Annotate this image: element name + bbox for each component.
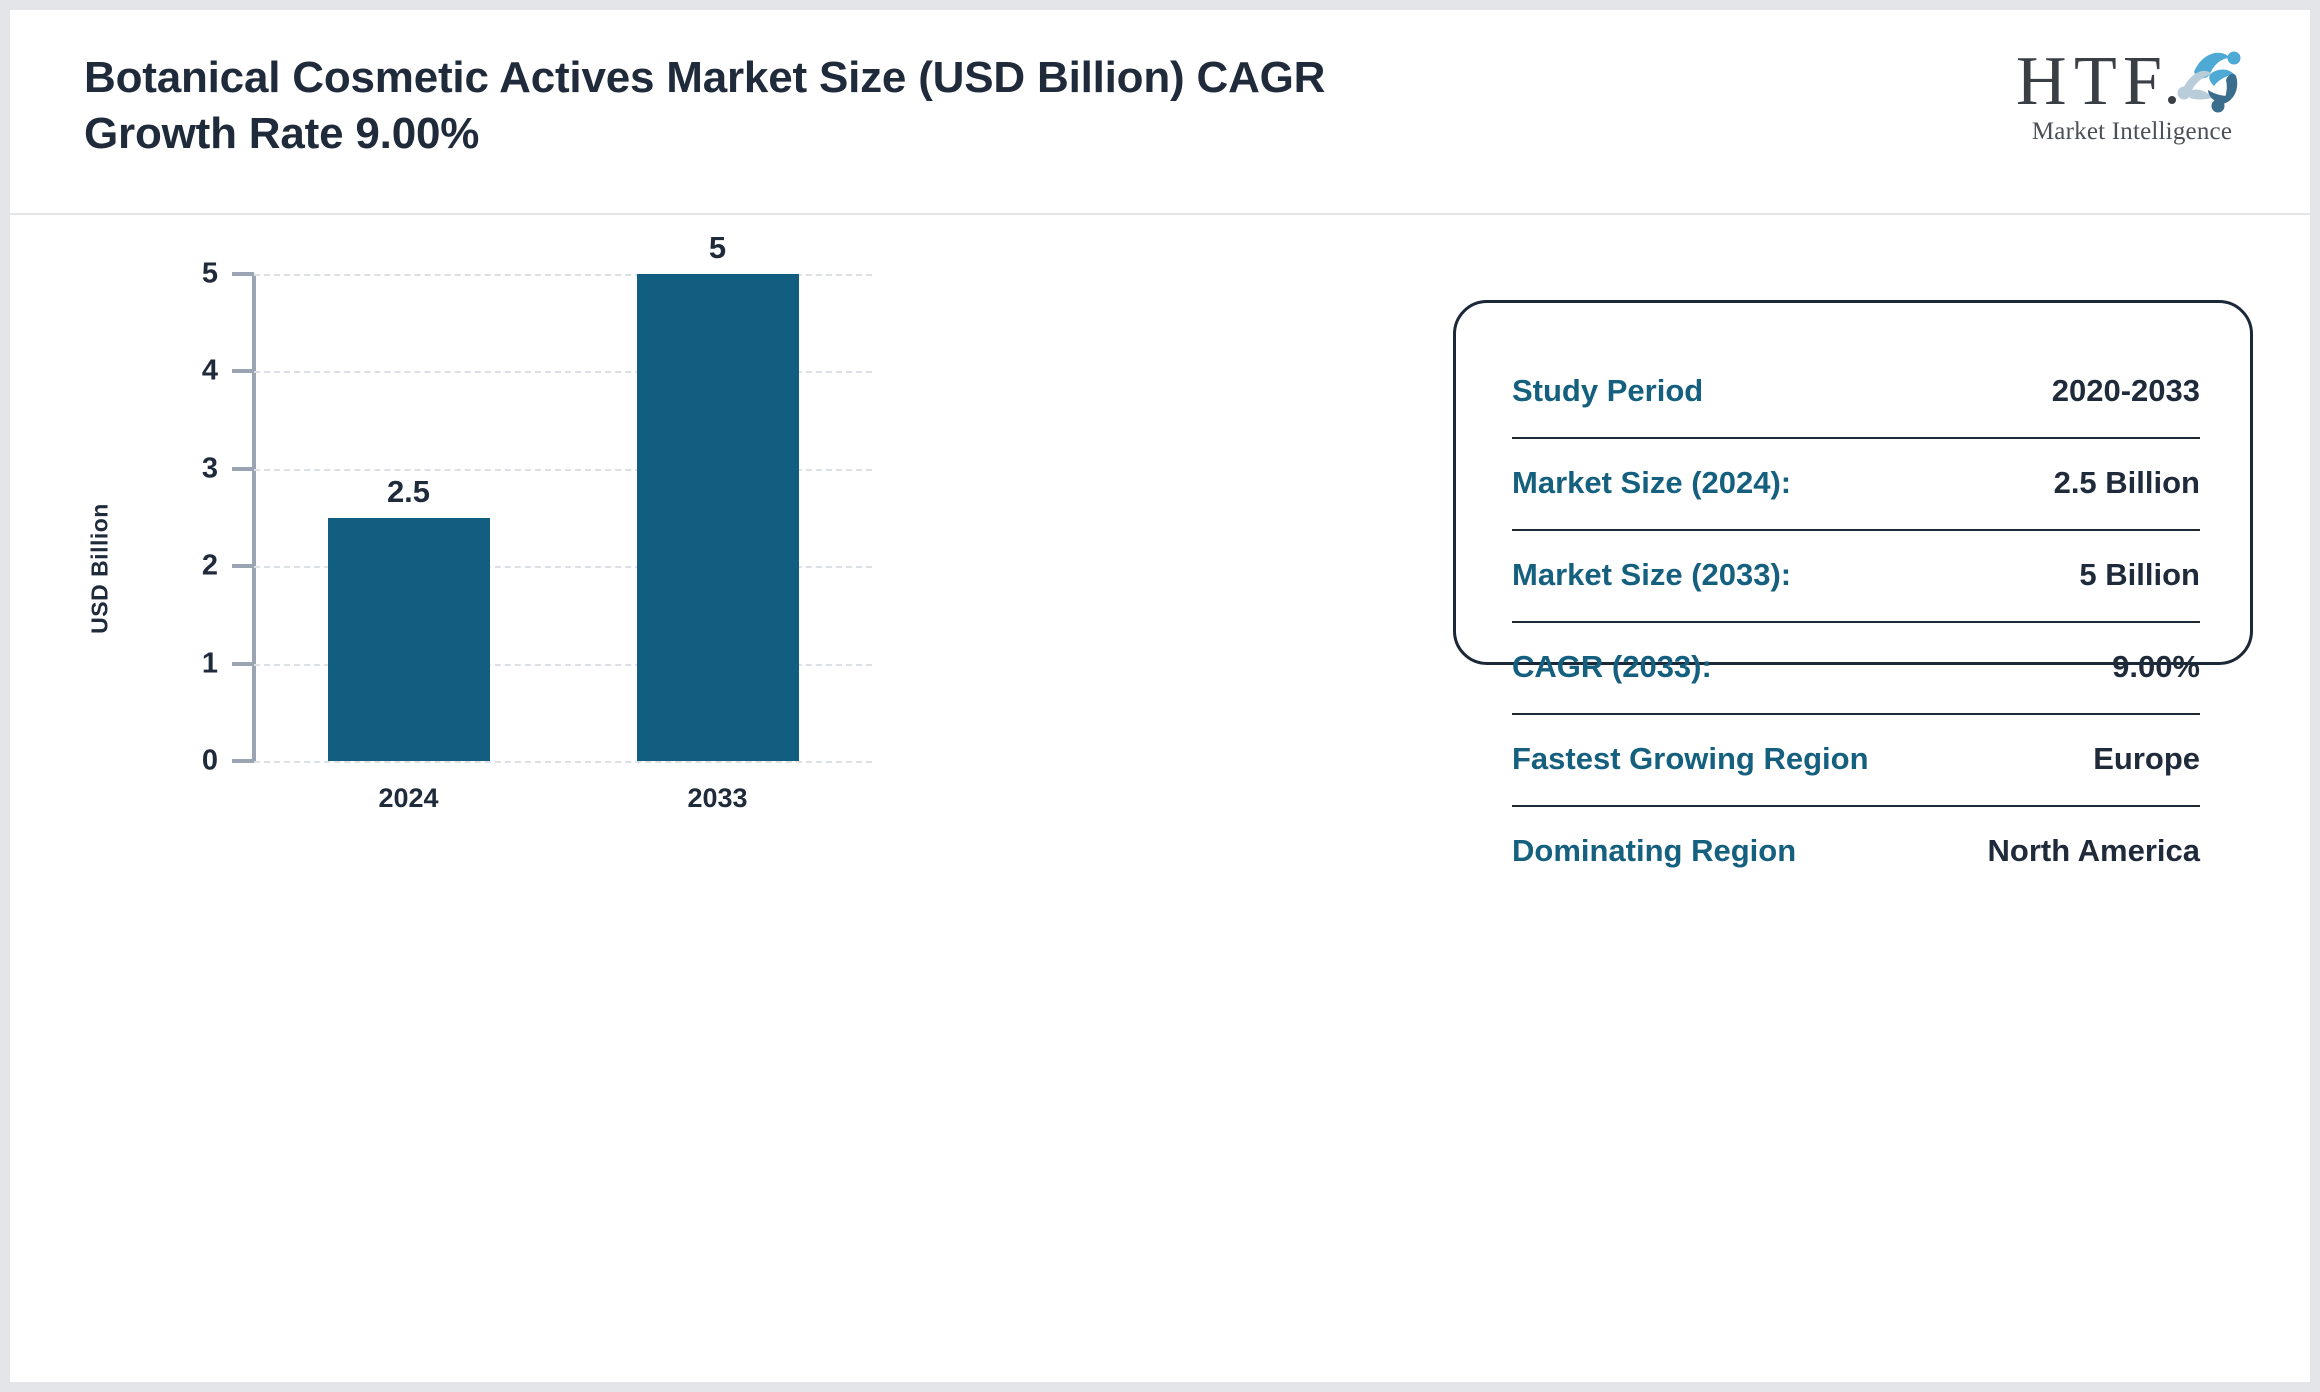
- info-row: Market Size (2033):5 Billion: [1512, 531, 2200, 623]
- y-tick-label: 5: [160, 258, 218, 291]
- y-axis-line: [252, 274, 256, 761]
- htf-market-intelligence-logo: H T F: [2012, 34, 2252, 152]
- y-tick-label: 4: [160, 355, 218, 388]
- info-row-value: 9.00%: [2112, 623, 2200, 685]
- info-row-label: Market Size (2024):: [1512, 439, 1791, 501]
- y-tick-mark: [232, 369, 254, 373]
- y-tick-mark: [232, 564, 254, 568]
- x-tick-label-2024: 2024: [378, 783, 438, 814]
- info-row: Market Size (2024):2.5 Billion: [1512, 439, 2200, 531]
- bar-2024[interactable]: [328, 518, 490, 762]
- logo-mark-icon: H T F: [2012, 34, 2252, 122]
- bar-2033[interactable]: [637, 274, 799, 761]
- y-tick-mark: [232, 662, 254, 666]
- info-row-value: North America: [1988, 807, 2200, 869]
- svg-text:H: H: [2016, 43, 2067, 120]
- info-row-value: 2020-2033: [2052, 347, 2200, 409]
- market-summary-card: Study Period2020-2033Market Size (2024):…: [1453, 300, 2253, 665]
- info-row-label: Fastest Growing Region: [1512, 715, 1869, 777]
- info-row-label: Study Period: [1512, 347, 1703, 409]
- info-row-label: CAGR (2033):: [1512, 623, 1712, 685]
- logo-subtitle: Market Intelligence: [2012, 118, 2252, 146]
- header-bar: Botanical Cosmetic Actives Market Size (…: [10, 10, 2310, 215]
- info-row: Dominating RegionNorth America: [1512, 807, 2200, 899]
- info-row-value: 2.5 Billion: [2054, 439, 2200, 501]
- info-row-label: Dominating Region: [1512, 807, 1796, 869]
- y-tick-mark: [232, 759, 254, 763]
- x-tick-label-2033: 2033: [687, 783, 747, 814]
- info-row-value: Europe: [2093, 715, 2200, 777]
- info-row: Study Period2020-2033: [1512, 347, 2200, 439]
- bar-value-label-2033: 5: [709, 230, 726, 266]
- svg-text:T: T: [2074, 43, 2117, 120]
- info-row: Fastest Growing RegionEurope: [1512, 715, 2200, 807]
- y-tick-label: 0: [160, 745, 218, 778]
- gridline: [254, 761, 872, 763]
- bar-value-label-2024: 2.5: [387, 474, 430, 510]
- screenshot-root: Botanical Cosmetic Actives Market Size (…: [0, 0, 2320, 1392]
- info-row: CAGR (2033):9.00%: [1512, 623, 2200, 715]
- y-tick-label: 1: [160, 647, 218, 680]
- y-tick-label: 2: [160, 550, 218, 583]
- y-tick-mark: [232, 467, 254, 471]
- bar-chart: USD Billion 012345 2.55 20242033: [10, 215, 1410, 1382]
- y-axis-title: USD Billion: [87, 439, 114, 699]
- report-canvas: Botanical Cosmetic Actives Market Size (…: [10, 10, 2310, 1382]
- y-tick-label: 3: [160, 452, 218, 485]
- svg-text:F: F: [2123, 43, 2162, 120]
- y-tick-mark: [232, 272, 254, 276]
- info-row-value: 5 Billion: [2079, 531, 2200, 593]
- info-row-label: Market Size (2033):: [1512, 531, 1791, 593]
- page-title: Botanical Cosmetic Actives Market Size (…: [84, 50, 1384, 163]
- market-summary-rows: Study Period2020-2033Market Size (2024):…: [1512, 347, 2200, 899]
